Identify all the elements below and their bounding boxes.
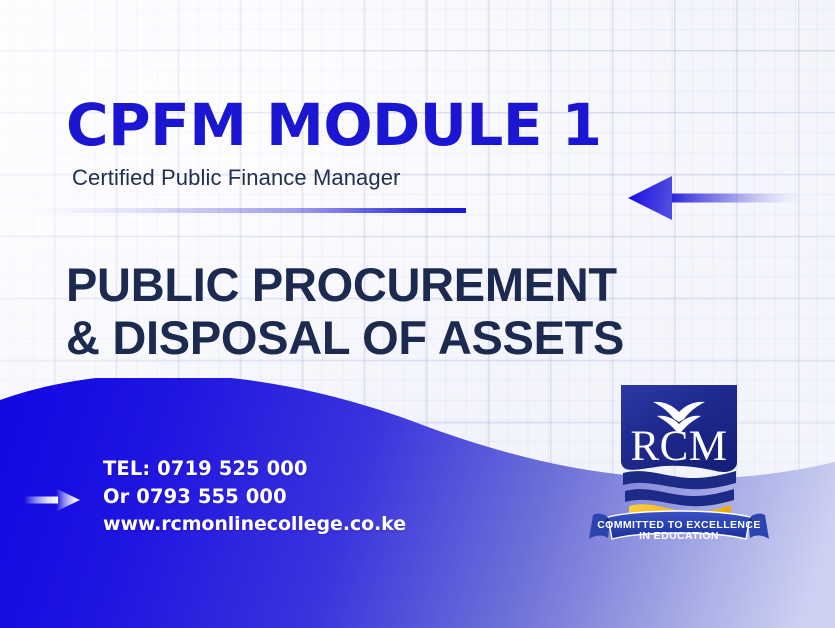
contact-website: www.rcmonlinecollege.co.ke (103, 511, 463, 538)
contact-tel-primary: TEL: 0719 525 000 (103, 455, 463, 483)
page-title: CPFM MODULE 1 (66, 96, 766, 154)
promo-banner: CPFM MODULE 1 Certified Public Finance M… (0, 0, 835, 628)
main-heading-line-2: & DISPOSAL OF ASSETS (66, 311, 778, 364)
logo-monogram: RCM (630, 423, 727, 470)
main-heading: PUBLIC PROCUREMENT & DISPOSAL OF ASSETS (66, 258, 778, 364)
contact-tel-secondary: Or 0793 555 000 (103, 483, 463, 511)
arrow-left-icon (628, 176, 803, 220)
contact-block: TEL: 0719 525 000 Or 0793 555 000 www.rc… (103, 455, 463, 538)
rcm-logo: RCM COMMITTED TO EXCELLENCE IN EDUCATION (580, 378, 778, 543)
divider (34, 208, 466, 213)
arrow-right-icon (24, 487, 80, 513)
logo-ribbon: COMMITTED TO EXCELLENCE IN EDUCATION (589, 511, 769, 542)
main-heading-line-1: PUBLIC PROCUREMENT (66, 258, 778, 311)
logo-ribbon-line-2: IN EDUCATION (639, 530, 719, 542)
